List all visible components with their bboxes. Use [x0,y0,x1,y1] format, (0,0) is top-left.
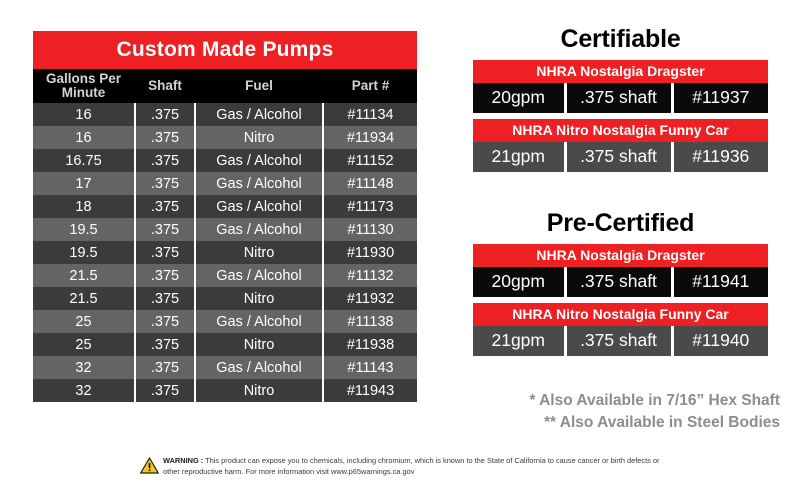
cell-part: #11943 [323,379,417,402]
warning-body: This product can expose you to chemicals… [163,456,660,476]
warning-text-block: WARNING : This product can expose you to… [163,456,660,477]
cell-gpm: 25 [33,333,135,356]
cell-part: #11936 [672,142,768,172]
table-row: 32 .375 Nitro #11943 [33,379,417,402]
column-header-shaft: Shaft [135,69,195,103]
warning-triangle-icon [140,457,159,479]
mini-table-header-row: NHRA Nostalgia Dragster [473,244,768,267]
footnote-steel-bodies: ** Also Available in Steel Bodies [440,412,780,434]
cell-shaft: .375 [135,379,195,402]
cell-part: #11941 [672,267,768,297]
prop65-warning: WARNING : This product can expose you to… [0,456,800,479]
table-row: 19.5 .375 Gas / Alcohol #11130 [33,218,417,241]
cell-fuel: Gas / Alcohol [195,103,323,126]
column-header-gallons-per-minute: Gallons Per Minute [33,69,135,103]
table-row: 17 .375 Gas / Alcohol #11148 [33,172,417,195]
cell-fuel: Gas / Alcohol [195,264,323,287]
cell-shaft: .375 [135,149,195,172]
table-row: 20gpm .375 shaft #11937 [473,83,768,113]
cell-shaft: .375 [135,356,195,379]
mini-table-header-row: NHRA Nostalgia Dragster [473,60,768,83]
cell-gpm: 16 [33,103,135,126]
certifiable-funny-car-header: NHRA Nitro Nostalgia Funny Car [473,119,768,142]
footnote-hex-shaft: * Also Available in 7/16” Hex Shaft [440,390,780,412]
main-table-title-row: Custom Made Pumps [33,31,417,69]
cell-gpm: 32 [33,379,135,402]
column-header-fuel: Fuel [195,69,323,103]
cell-gpm: 19.5 [33,241,135,264]
cell-part: #11143 [323,356,417,379]
certifiable-dragster-header: NHRA Nostalgia Dragster [473,60,768,83]
cell-fuel: Nitro [195,379,323,402]
certifiable-dragster-table: NHRA Nostalgia Dragster 20gpm .375 shaft… [473,60,768,113]
cell-gpm: 21.5 [33,264,135,287]
cell-gpm: 21.5 [33,287,135,310]
cell-shaft: .375 shaft [565,267,672,297]
cell-gpm: 16.75 [33,149,135,172]
table-row: 21gpm .375 shaft #11940 [473,326,768,356]
cell-shaft: .375 [135,310,195,333]
cell-gpm: 25 [33,310,135,333]
cell-shaft: .375 [135,218,195,241]
cell-shaft: .375 [135,264,195,287]
cell-part: #11930 [323,241,417,264]
main-table-title: Custom Made Pumps [33,31,417,69]
cell-gpm: 18 [33,195,135,218]
main-table-header-row: Gallons Per Minute Shaft Fuel Part # [33,69,417,103]
certifiable-section: Certifiable NHRA Nostalgia Dragster 20gp… [473,26,768,178]
table-row: 21gpm .375 shaft #11936 [473,142,768,172]
cell-gpm: 17 [33,172,135,195]
cell-fuel: Nitro [195,287,323,310]
table-row: 21.5 .375 Gas / Alcohol #11132 [33,264,417,287]
cell-fuel: Nitro [195,126,323,149]
cell-part: #11148 [323,172,417,195]
cell-fuel: Gas / Alcohol [195,218,323,241]
cell-fuel: Gas / Alcohol [195,172,323,195]
table-row: 25 .375 Gas / Alcohol #11138 [33,310,417,333]
table-row: 16 .375 Nitro #11934 [33,126,417,149]
cell-part: #11132 [323,264,417,287]
cell-part: #11932 [323,287,417,310]
cell-part: #11134 [323,103,417,126]
cell-gpm: 32 [33,356,135,379]
table-row: 20gpm .375 shaft #11941 [473,267,768,297]
cell-shaft: .375 [135,195,195,218]
cell-shaft: .375 [135,172,195,195]
cell-shaft: .375 shaft [565,142,672,172]
certifiable-funny-car-table: NHRA Nitro Nostalgia Funny Car 21gpm .37… [473,119,768,172]
warning-label: WARNING : [163,456,203,465]
cell-part: #11938 [323,333,417,356]
table-row: 18 .375 Gas / Alcohol #11173 [33,195,417,218]
cell-gpm: 20gpm [473,267,565,297]
table-row: 16.75 .375 Gas / Alcohol #11152 [33,149,417,172]
cell-gpm: 21gpm [473,142,565,172]
cell-fuel: Gas / Alcohol [195,149,323,172]
cell-gpm: 20gpm [473,83,565,113]
mini-table-header-row: NHRA Nitro Nostalgia Funny Car [473,119,768,142]
cell-part: #11130 [323,218,417,241]
precertified-dragster-table: NHRA Nostalgia Dragster 20gpm .375 shaft… [473,244,768,297]
main-table-body: 16 .375 Gas / Alcohol #11134 16 .375 Nit… [33,103,417,402]
cell-gpm: 16 [33,126,135,149]
cell-shaft: .375 [135,287,195,310]
table-row: 21.5 .375 Nitro #11932 [33,287,417,310]
cell-shaft: .375 [135,103,195,126]
cell-shaft: .375 shaft [565,326,672,356]
footnotes: * Also Available in 7/16” Hex Shaft ** A… [440,390,780,434]
certifiable-title: Certifiable [473,26,768,54]
cell-shaft: .375 shaft [565,83,672,113]
precertified-funny-car-table: NHRA Nitro Nostalgia Funny Car 21gpm .37… [473,303,768,356]
cell-part: #11934 [323,126,417,149]
cell-fuel: Nitro [195,241,323,264]
cell-gpm: 21gpm [473,326,565,356]
cell-shaft: .375 [135,126,195,149]
cell-part: #11138 [323,310,417,333]
cell-fuel: Gas / Alcohol [195,310,323,333]
column-header-part-number: Part # [323,69,417,103]
table-row: 32 .375 Gas / Alcohol #11143 [33,356,417,379]
cell-gpm: 19.5 [33,218,135,241]
cell-shaft: .375 [135,333,195,356]
cell-part: #11173 [323,195,417,218]
cell-part: #11937 [672,83,768,113]
cell-fuel: Gas / Alcohol [195,356,323,379]
main-table-head: Custom Made Pumps Gallons Per Minute Sha… [33,31,417,103]
mini-table-header-row: NHRA Nitro Nostalgia Funny Car [473,303,768,326]
cell-fuel: Gas / Alcohol [195,195,323,218]
precertified-title: Pre-Certified [473,210,768,238]
precertified-dragster-header: NHRA Nostalgia Dragster [473,244,768,267]
table-row: 16 .375 Gas / Alcohol #11134 [33,103,417,126]
table-row: 19.5 .375 Nitro #11930 [33,241,417,264]
cell-shaft: .375 [135,241,195,264]
cell-part: #11152 [323,149,417,172]
table-row: 25 .375 Nitro #11938 [33,333,417,356]
precertified-section: Pre-Certified NHRA Nostalgia Dragster 20… [473,210,768,362]
precertified-funny-car-header: NHRA Nitro Nostalgia Funny Car [473,303,768,326]
custom-made-pumps-table: Custom Made Pumps Gallons Per Minute Sha… [33,31,417,402]
cell-part: #11940 [672,326,768,356]
cell-fuel: Nitro [195,333,323,356]
